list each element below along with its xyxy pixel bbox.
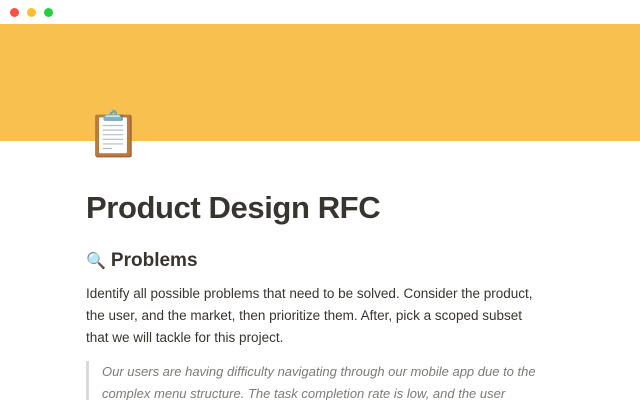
window-titlebar (0, 0, 640, 24)
document-editor-window: 📋 Product Design RFC 🔍 Problems Identify… (0, 0, 640, 400)
paragraph-block[interactable]: Identify all possible problems that need… (86, 274, 546, 349)
section-heading-problems[interactable]: 🔍 Problems (86, 226, 554, 274)
quote-text: Our users are having difficulty navigati… (102, 361, 554, 400)
section-heading-label: Problems (111, 249, 198, 274)
page-icon-emoji[interactable]: 📋 (86, 110, 136, 160)
magnifying-glass-icon: 🔍 (86, 254, 106, 270)
minimize-window-icon[interactable] (27, 8, 36, 17)
page-inner-column: Product Design RFC 🔍 Problems Identify a… (0, 141, 640, 400)
page-content-area: Product Design RFC 🔍 Problems Identify a… (0, 141, 640, 400)
page-title[interactable]: Product Design RFC (86, 141, 554, 226)
close-window-icon[interactable] (10, 8, 19, 17)
window-controls (10, 8, 53, 17)
maximize-window-icon[interactable] (44, 8, 53, 17)
quote-block[interactable]: Our users are having difficulty navigati… (86, 361, 554, 400)
